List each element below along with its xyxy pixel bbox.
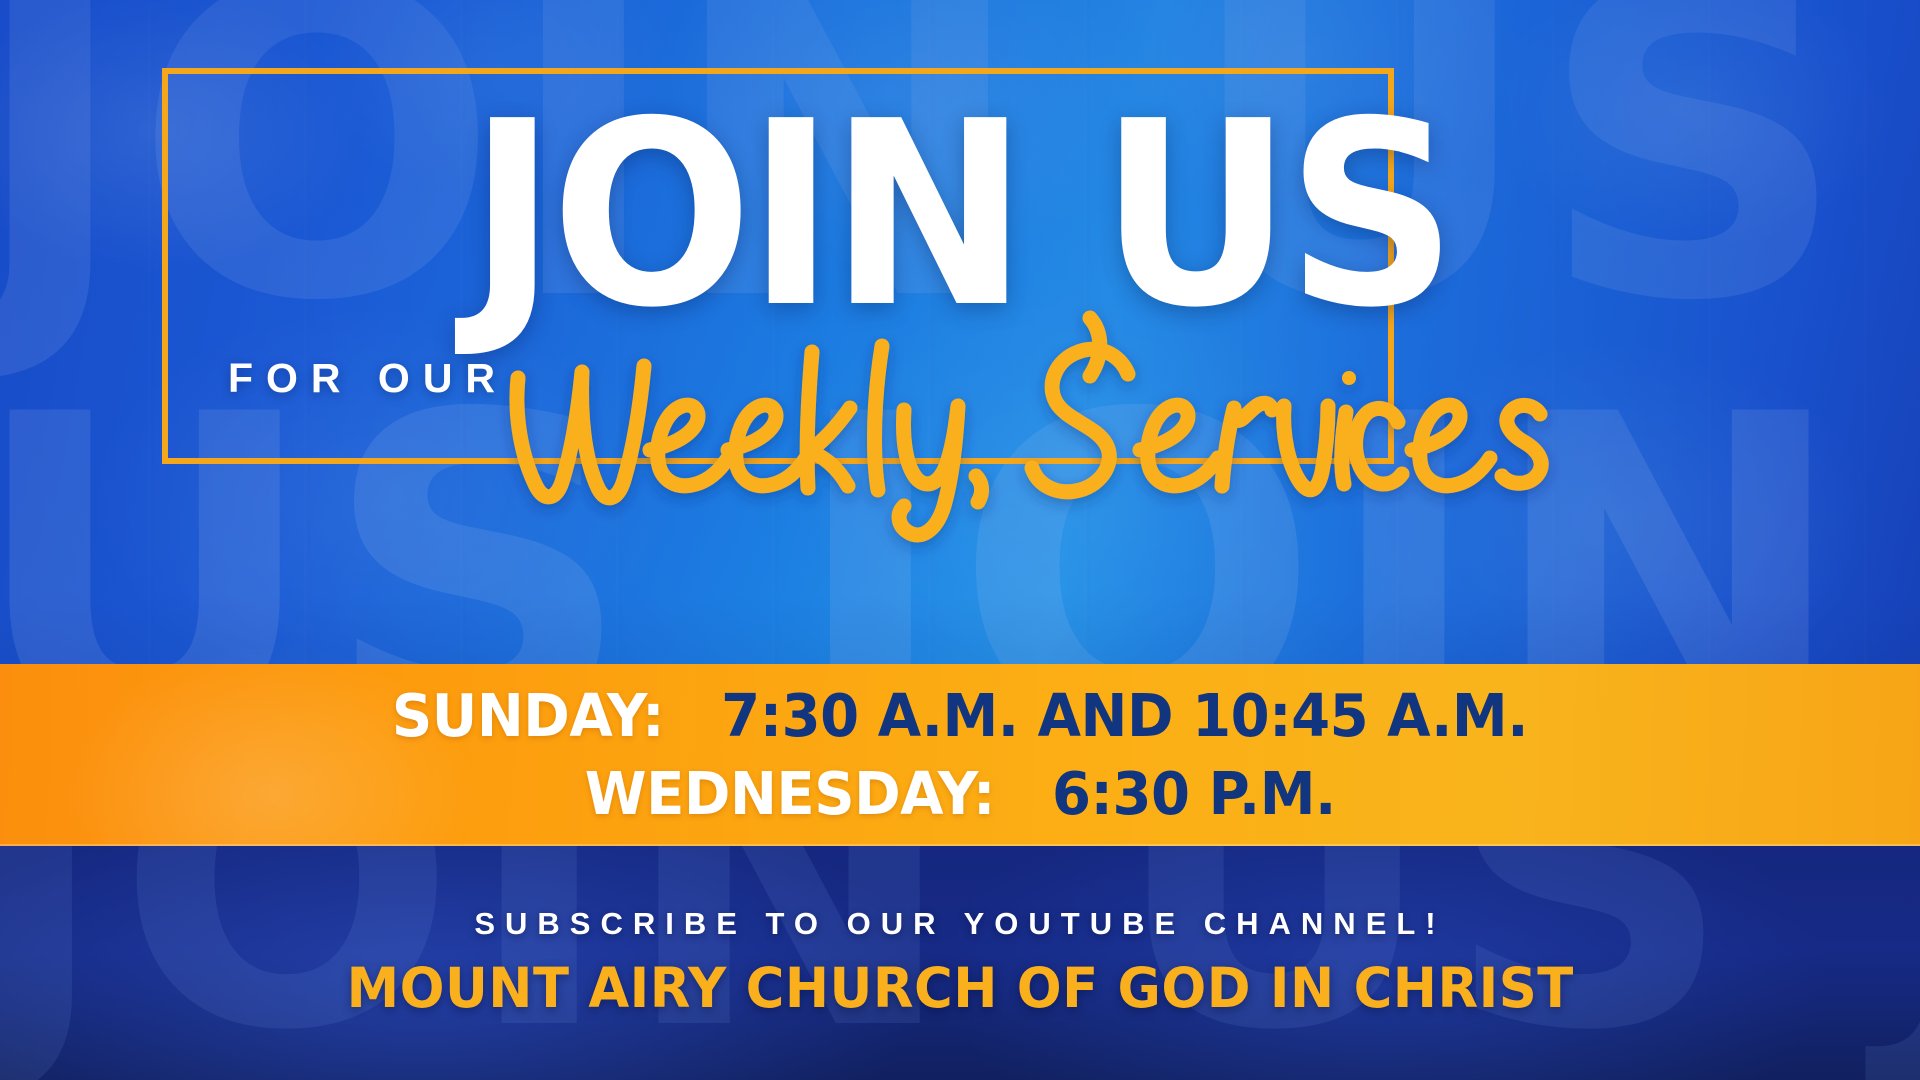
- flyer-canvas: JOIN US JOIN US JOIN US J OIN US JOIN JO…: [0, 0, 1920, 1080]
- service-time-row: SUNDAY: 7:30 A.M. AND 10:45 A.M.: [392, 677, 1528, 755]
- service-day-label: WEDNESDAY:: [584, 759, 994, 828]
- service-day-label: SUNDAY:: [392, 681, 664, 750]
- footer-section: JOIN US JOIN US SUBSCRIBE TO OUR YOUTUBE…: [0, 846, 1920, 1080]
- eyebrow-for-our: FOR OUR: [228, 355, 508, 402]
- service-time-value: 6:30 P.M.: [1052, 759, 1336, 828]
- service-time-row: WEDNESDAY: 6:30 P.M.: [584, 755, 1335, 833]
- service-times-banner: SUNDAY: 7:30 A.M. AND 10:45 A.M. WEDNESD…: [0, 664, 1920, 846]
- subscribe-call-to-action: SUBSCRIBE TO OUR YOUTUBE CHANNEL!: [474, 906, 1445, 942]
- gold-border-frame: [162, 68, 1394, 464]
- church-name: MOUNT AIRY CHURCH OF GOD IN CHRIST: [346, 956, 1573, 1020]
- footer-content: SUBSCRIBE TO OUR YOUTUBE CHANNEL! MOUNT …: [0, 846, 1920, 1080]
- service-time-value: 7:30 A.M. AND 10:45 A.M.: [721, 681, 1528, 750]
